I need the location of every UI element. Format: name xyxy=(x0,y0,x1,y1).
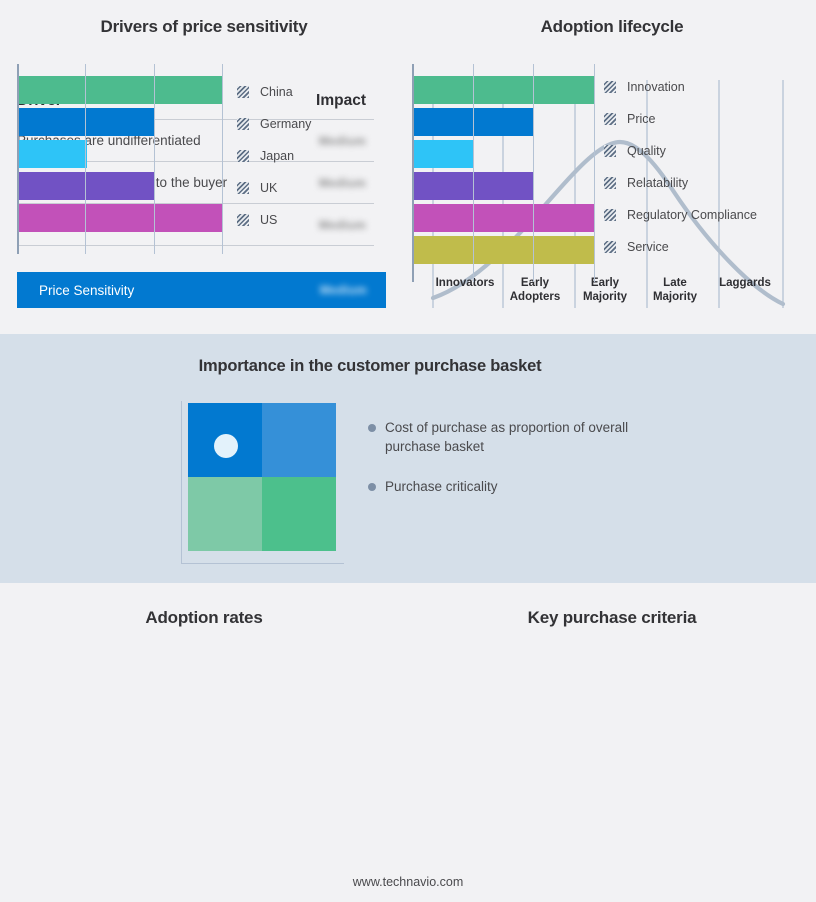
bar-innovation[interactable] xyxy=(414,76,594,104)
bar-uk[interactable] xyxy=(19,172,154,200)
legend-item[interactable]: Service xyxy=(604,231,757,263)
impact-value: Medium xyxy=(319,218,374,232)
table-row-highlighted-price-sensitivity[interactable]: Price Sensitivity Medium xyxy=(17,272,386,308)
bar-row xyxy=(19,140,222,168)
legend-swatch-hatched-icon xyxy=(237,86,249,98)
legend-item[interactable]: Quality xyxy=(604,135,757,167)
gridline xyxy=(154,64,155,254)
adoption-rates-legend: ChinaGermanyJapanUKUS xyxy=(237,76,311,236)
legend-item[interactable]: Cost of purchase as proportion of overal… xyxy=(368,418,668,456)
quadrant-matrix-chart xyxy=(181,401,344,564)
bar-germany[interactable] xyxy=(19,108,154,136)
value-axis xyxy=(17,64,19,254)
legend-item[interactable]: US xyxy=(237,204,311,236)
legend-swatch-hatched-icon xyxy=(604,177,616,189)
legend-item-label: Relatability xyxy=(627,176,688,190)
bar-japan[interactable] xyxy=(19,140,87,168)
key-purchase-criteria-bar-chart xyxy=(412,64,594,282)
legend-item-label: Cost of purchase as proportion of overal… xyxy=(385,418,640,456)
bar-row xyxy=(414,172,594,200)
legend-item-label: Purchase criticality xyxy=(385,477,498,496)
bar-us[interactable] xyxy=(19,204,222,232)
quadrant-bottom-right[interactable] xyxy=(262,477,336,551)
impact-value: Medium xyxy=(319,134,374,148)
gridline xyxy=(533,64,534,282)
bar-relatability[interactable] xyxy=(414,172,534,200)
panel-title-drivers: Drivers of price sensitivity xyxy=(0,17,408,37)
legend-item-label: Japan xyxy=(260,149,294,163)
panel-title-key-purchase-criteria: Key purchase criteria xyxy=(408,608,816,628)
quadrant-x-axis xyxy=(181,563,344,564)
bars-container xyxy=(19,76,222,236)
legend-item[interactable]: Price xyxy=(604,103,757,135)
legend-swatch-hatched-icon xyxy=(604,145,616,157)
value-axis xyxy=(412,64,414,282)
legend-item-label: Germany xyxy=(260,117,311,131)
panel-adoption-rates: Adoption rates xyxy=(0,583,408,902)
quadrant-top-right[interactable] xyxy=(262,403,336,477)
bar-row xyxy=(19,172,222,200)
bar-row xyxy=(19,108,222,136)
quadrant-y-axis xyxy=(181,401,182,564)
bars-container xyxy=(414,76,594,268)
page-root: Drivers of price sensitivity Driver Impa… xyxy=(0,0,816,902)
gridline xyxy=(85,64,86,254)
legend-swatch-hatched-icon xyxy=(604,241,616,253)
impact-value: Medium xyxy=(320,283,375,297)
legend-swatch-hatched-icon xyxy=(237,118,249,130)
bar-row xyxy=(19,76,222,104)
panel-key-purchase-criteria: Key purchase criteria xyxy=(408,583,816,902)
legend-item[interactable]: Regulatory Compliance xyxy=(604,199,757,231)
quadrant-grid xyxy=(188,403,336,551)
legend-item-label: China xyxy=(260,85,293,99)
legend-item-label: Service xyxy=(627,240,669,254)
legend-item[interactable]: China xyxy=(237,76,311,108)
column-header-impact: Impact xyxy=(316,92,374,110)
gridline xyxy=(594,64,595,282)
bullet-dot-icon xyxy=(368,424,376,432)
bar-regulatory-compliance[interactable] xyxy=(414,204,594,232)
bullet-dot-icon xyxy=(368,483,376,491)
legend-item-label: Price xyxy=(627,112,655,126)
bar-row xyxy=(414,140,594,168)
adoption-rates-bar-chart xyxy=(17,64,222,254)
legend-item-label: Innovation xyxy=(627,80,685,94)
legend-item-label: Quality xyxy=(627,144,666,158)
quadrant-bottom-left[interactable] xyxy=(188,477,262,551)
panel-title-adoption-rates: Adoption rates xyxy=(0,608,408,628)
legend-item[interactable]: Germany xyxy=(237,108,311,140)
key-purchase-criteria-legend: InnovationPriceQualityRelatabilityRegula… xyxy=(604,71,757,263)
bar-row xyxy=(414,204,594,232)
legend-item-label: Regulatory Compliance xyxy=(627,208,757,222)
basket-legend: Cost of purchase as proportion of overal… xyxy=(368,418,668,517)
plot-area xyxy=(17,64,222,254)
gridline xyxy=(473,64,474,282)
bar-row xyxy=(414,76,594,104)
impact-value: Medium xyxy=(319,176,374,190)
bar-service[interactable] xyxy=(414,236,594,264)
legend-swatch-hatched-icon xyxy=(604,113,616,125)
quadrant-position-marker xyxy=(214,434,238,458)
legend-swatch-hatched-icon xyxy=(237,214,249,226)
bar-row xyxy=(414,236,594,264)
legend-item[interactable]: Innovation xyxy=(604,71,757,103)
legend-swatch-hatched-icon xyxy=(604,209,616,221)
legend-item-label: UK xyxy=(260,181,277,195)
legend-swatch-hatched-icon xyxy=(604,81,616,93)
legend-swatch-hatched-icon xyxy=(237,150,249,162)
bar-row xyxy=(19,204,222,232)
legend-item[interactable]: Purchase criticality xyxy=(368,477,668,496)
lifecycle-stage-late-majority: LateMajority xyxy=(640,277,710,304)
bar-quality[interactable] xyxy=(414,140,474,168)
legend-swatch-hatched-icon xyxy=(237,182,249,194)
legend-item[interactable]: UK xyxy=(237,172,311,204)
legend-item[interactable]: Japan xyxy=(237,140,311,172)
lifecycle-stage-laggards: Laggards xyxy=(710,277,780,304)
panel-title-lifecycle: Adoption lifecycle xyxy=(408,17,816,37)
legend-item[interactable]: Relatability xyxy=(604,167,757,199)
panel-importance-in-customer-purchase-basket: Importance in the customer purchase bask… xyxy=(0,334,816,583)
plot-area xyxy=(412,64,594,282)
panel-title-basket: Importance in the customer purchase bask… xyxy=(0,357,740,376)
legend-item-label: US xyxy=(260,213,277,227)
bar-china[interactable] xyxy=(19,76,222,104)
gridline xyxy=(222,64,223,254)
footer-url: www.technavio.com xyxy=(0,875,816,889)
bar-price[interactable] xyxy=(414,108,534,136)
driver-label: Price Sensitivity xyxy=(39,283,134,298)
bar-row xyxy=(414,108,594,136)
